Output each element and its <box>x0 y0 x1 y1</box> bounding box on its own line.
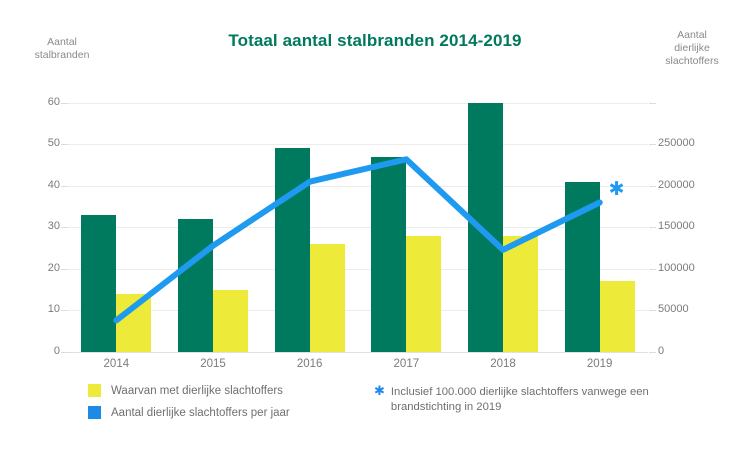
y2-axis-tick-label: 50000 <box>658 303 689 315</box>
right-axis-caption-line1: Aantal <box>640 29 744 42</box>
y-axis-tick-mark <box>61 144 68 145</box>
chart-title: Totaal aantal stalbranden 2014-2019 <box>0 31 750 51</box>
y-axis-tick-mark <box>61 103 68 104</box>
x-axis-tick-label: 2014 <box>68 358 165 370</box>
legend-swatch-icon-blue <box>88 406 101 419</box>
y-axis-tick-label: 30 <box>0 220 60 232</box>
y2-axis-tick-label: 100000 <box>658 262 695 274</box>
bar-total <box>371 157 406 352</box>
bar-victims <box>116 294 151 352</box>
gridline <box>68 103 648 104</box>
y2-axis-tick-label: 150000 <box>658 220 695 232</box>
footnote: ✱ Inclusief 100.000 dierlijke slachtoffe… <box>374 385 653 414</box>
victims-line-series <box>68 82 648 352</box>
y-axis-tick-label: 10 <box>0 303 60 315</box>
y-axis-tick-label: 0 <box>0 345 60 357</box>
y-axis-tick-label: 60 <box>0 96 60 108</box>
y2-axis-tick-mark <box>649 227 656 228</box>
bar-total <box>81 215 116 352</box>
y-axis-tick-label: 50 <box>0 137 60 149</box>
left-axis-caption-line1: Aantal <box>16 36 108 49</box>
y-axis-tick-label: 40 <box>0 179 60 191</box>
y-axis-tick-mark <box>61 310 68 311</box>
y2-axis-tick-mark <box>649 103 656 104</box>
bar-victims <box>310 244 345 352</box>
y2-axis-tick-mark <box>649 186 656 187</box>
y-axis-tick-mark <box>61 269 68 270</box>
gridline <box>68 227 648 228</box>
bar-total <box>468 103 503 352</box>
annotation-asterisk-icon: ✱ <box>609 180 625 199</box>
x-axis-tick-label: 2018 <box>455 358 552 370</box>
legend-swatch-icon-yellow <box>88 384 101 397</box>
right-axis-caption-line2: dierlijke <box>640 42 744 55</box>
y-axis-tick-mark <box>61 352 68 353</box>
y-axis-tick-mark <box>61 227 68 228</box>
bar-total <box>178 219 213 352</box>
left-axis-caption-line2: stalbranden <box>16 49 108 62</box>
gridline <box>68 310 648 311</box>
legend: Waarvan met dierlijke slachtoffers Aanta… <box>88 384 290 428</box>
y2-axis-tick-label: 250000 <box>658 137 695 149</box>
legend-label: Aantal dierlijke slachtoffers per jaar <box>111 407 290 419</box>
y-axis-tick-mark <box>61 186 68 187</box>
y2-axis-tick-label: 0 <box>658 345 664 357</box>
y2-axis-tick-label: 200000 <box>658 179 695 191</box>
x-axis-tick-label: 2017 <box>358 358 455 370</box>
footnote-text: Inclusief 100.000 dierlijke slachtoffers… <box>391 385 653 414</box>
x-axis-tick-label: 2016 <box>261 358 358 370</box>
bar-total <box>565 182 600 352</box>
asterisk-icon: ✱ <box>374 385 385 399</box>
legend-item-victim-line: Aantal dierlijke slachtoffers per jaar <box>88 406 290 419</box>
right-axis-caption-line3: slachtoffers <box>640 55 744 68</box>
gridline <box>68 186 648 187</box>
y-axis-tick-label: 20 <box>0 262 60 274</box>
bar-total <box>275 148 310 352</box>
x-axis-tick-label: 2015 <box>165 358 262 370</box>
right-axis-caption: Aantal dierlijke slachtoffers <box>640 29 744 68</box>
bar-victims <box>406 236 441 352</box>
plot-area <box>68 82 648 352</box>
legend-label: Waarvan met dierlijke slachtoffers <box>111 385 283 397</box>
y2-axis-tick-mark <box>649 144 656 145</box>
bar-victims <box>600 281 635 352</box>
bar-victims <box>213 290 248 352</box>
gridline <box>68 144 648 145</box>
legend-item-victim-bars: Waarvan met dierlijke slachtoffers <box>88 384 290 397</box>
y2-axis-tick-mark <box>649 352 656 353</box>
gridline <box>68 269 648 270</box>
x-axis-tick-label: 2019 <box>551 358 648 370</box>
left-axis-caption: Aantal stalbranden <box>16 36 108 62</box>
gridline <box>68 352 648 353</box>
chart-container: Totaal aantal stalbranden 2014-2019 Aant… <box>0 0 750 453</box>
bar-victims <box>503 236 538 352</box>
y2-axis-tick-mark <box>649 269 656 270</box>
y2-axis-tick-mark <box>649 310 656 311</box>
